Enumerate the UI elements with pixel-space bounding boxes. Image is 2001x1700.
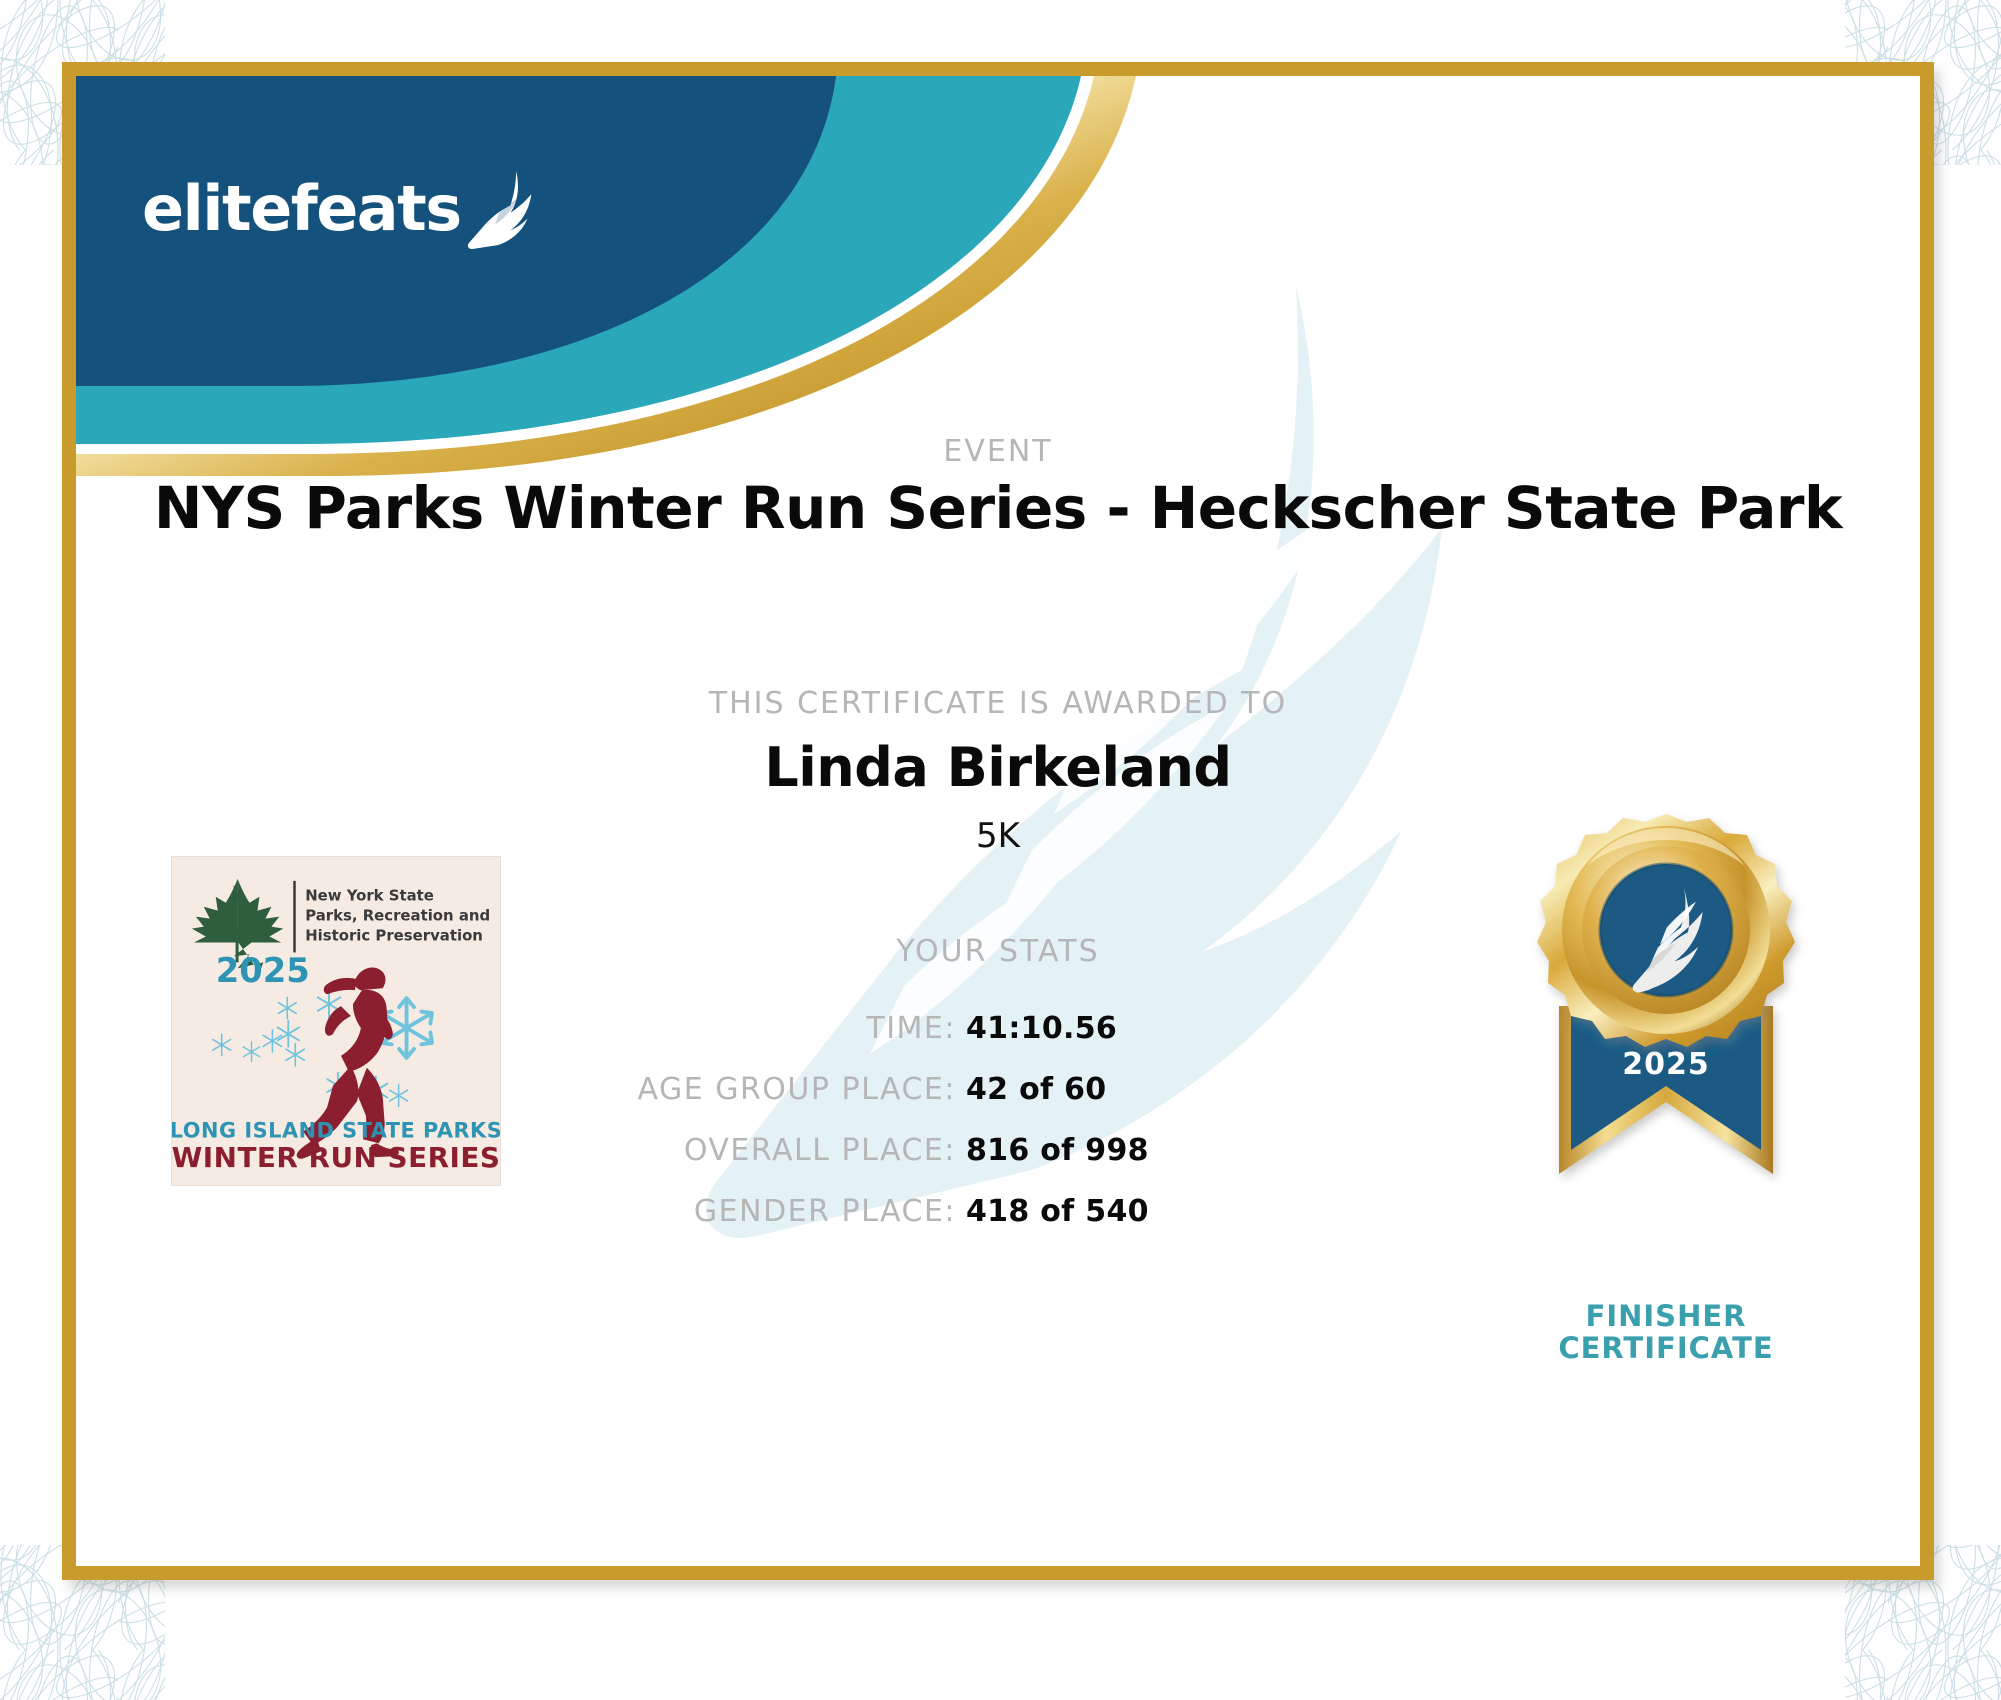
event-series-logo: New York State Parks, Recreation and His… [171, 856, 501, 1186]
medal-caption-line-1: FINISHER [1476, 1300, 1856, 1332]
certificate-body: elitefeats [76, 76, 1920, 1566]
medal-caption-line-2: CERTIFICATE [1476, 1332, 1856, 1364]
event-title: NYS Parks Winter Run Series - Heckscher … [76, 474, 1920, 542]
logo-year: 2025 [216, 951, 310, 990]
agency-line-1: New York State [305, 887, 434, 905]
medal-year: 2025 [1622, 1047, 1710, 1082]
medal-caption: FINISHER CERTIFICATE [1476, 1300, 1856, 1365]
agency-line-2: Parks, Recreation and [305, 907, 490, 925]
certificate-frame: elitefeats [62, 62, 1934, 1580]
series-line-1: LONG ISLAND STATE PARKS [172, 1118, 500, 1142]
awarded-to-label: THIS CERTIFICATE IS AWARDED TO [76, 686, 1920, 721]
certificate-page: elitefeats [0, 0, 2001, 1700]
stat-label-gender-place: GENDER PLACE: [76, 1194, 966, 1229]
finisher-medal: 2025 [1501, 806, 1831, 1336]
content-area: EVENT NYS Parks Winter Run Series - Heck… [76, 76, 1920, 1566]
recipient-name: Linda Birkeland [76, 736, 1920, 799]
event-section-label: EVENT [76, 434, 1920, 469]
series-line-2: WINTER RUN SERIES [172, 1141, 500, 1174]
agency-line-3: Historic Preservation [305, 926, 483, 944]
